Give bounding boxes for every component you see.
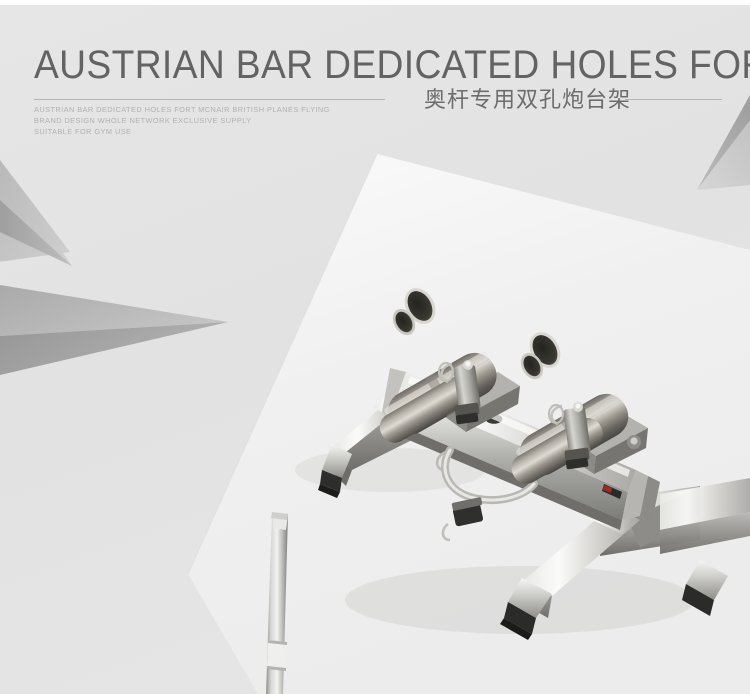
decor-triangle-upper-left [0,160,72,276]
decor-triangle-right [697,95,750,190]
white-panel [188,154,750,694]
tagline-block: AUSTRIAN BAR DEDICATED HOLES FORT MCNAIR… [34,104,339,138]
chinese-subtitle: 奥杆专用双孔炮台架 [424,88,631,114]
divider-left [34,99,385,100]
product-banner: AUSTRIAN BAR DEDICATED HOLES FORT FRAME … [0,0,750,694]
divider-right [625,99,722,100]
tagline-line-1: AUSTRIAN BAR DEDICATED HOLES FORT MCNAIR… [34,104,330,115]
decor-triangle-left [0,285,228,375]
tagline-line-2: BRAND DESIGN WHOLE NETWORK EXCLUSIVE SUP… [34,115,330,126]
page-title: AUSTRIAN BAR DEDICATED HOLES FORT FRAME [34,43,750,87]
tagline-line-3: SUITABLE FOR GYM USE [34,126,330,137]
